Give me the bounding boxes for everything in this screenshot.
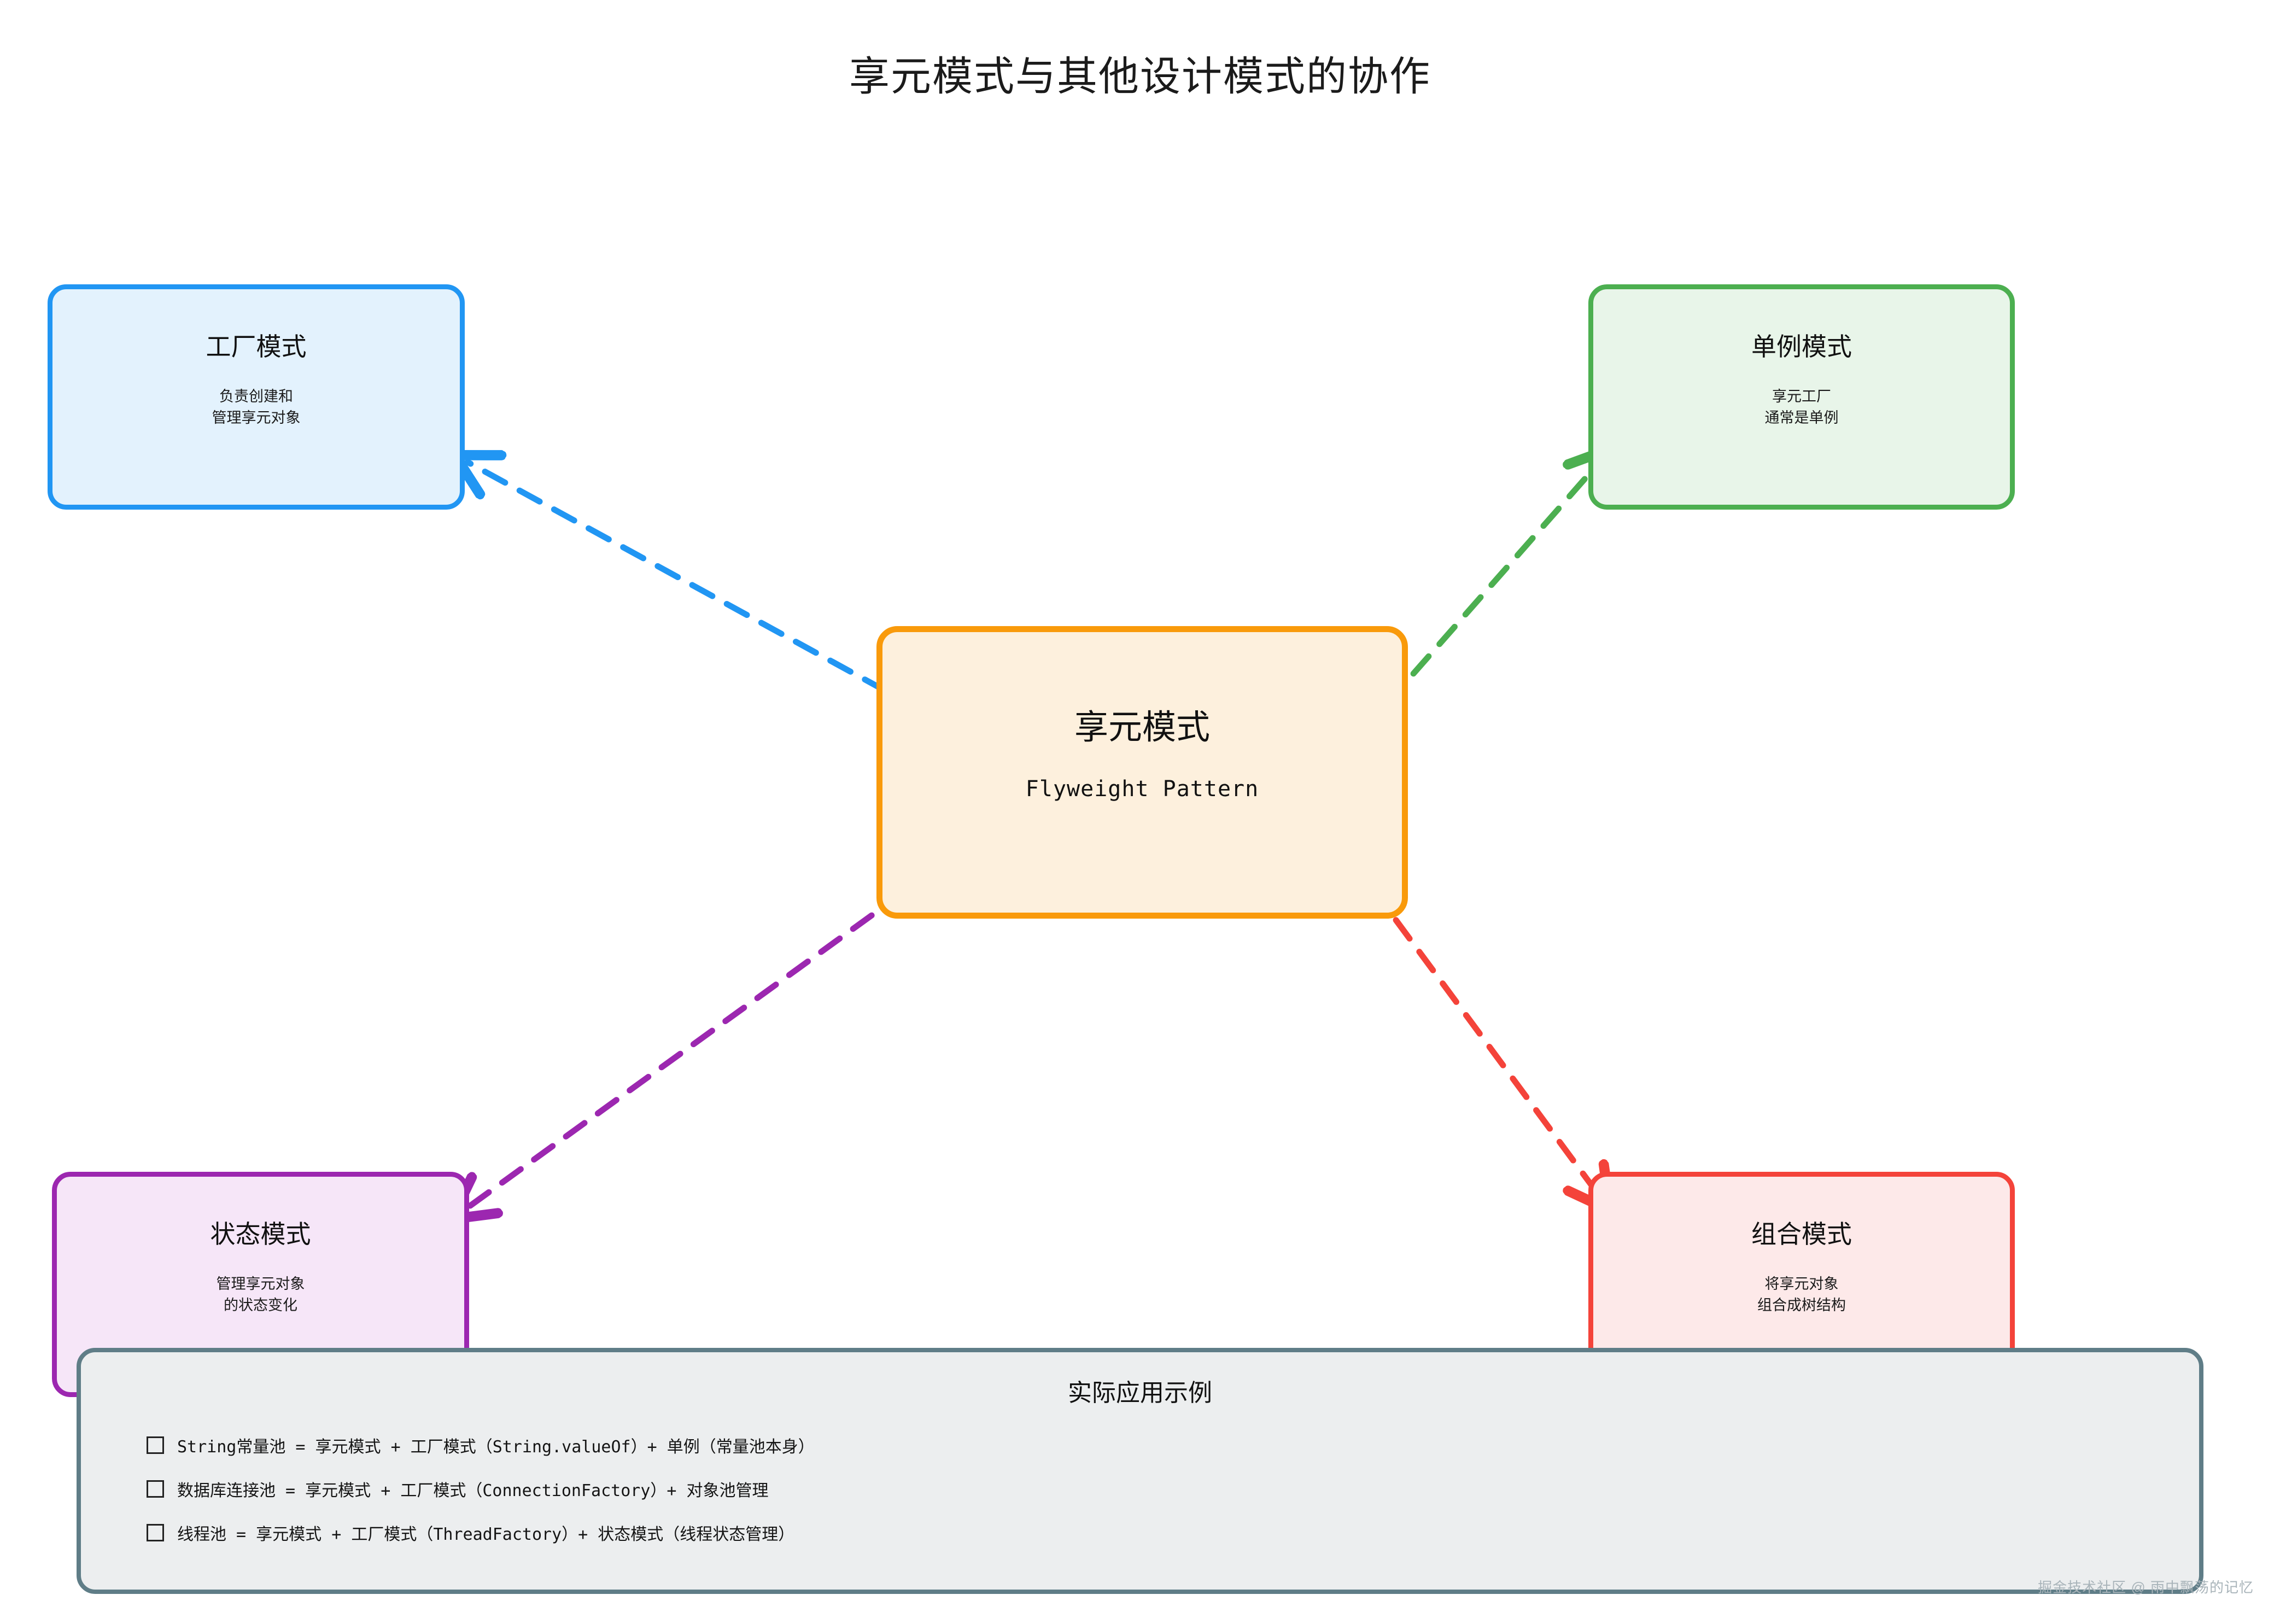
node-composite-title: 组合模式 <box>1751 1219 1852 1249</box>
checkbox-icon <box>147 1524 164 1541</box>
node-flyweight-title: 享元模式 <box>1074 708 1210 748</box>
node-flyweight-pattern[interactable]: 享元模式 Flyweight Pattern <box>876 626 1408 919</box>
checkbox-icon <box>147 1436 164 1454</box>
node-factory-subtitle: 负责创建和 管理享元对象 <box>212 386 301 429</box>
node-singleton-subtitle: 享元工厂 通常是单例 <box>1765 386 1839 429</box>
node-composite-subtitle: 将享元对象 组合成树结构 <box>1757 1274 1846 1316</box>
examples-list: String常量池 = 享元模式 + 工厂模式（String.valueOf）+… <box>81 1433 2199 1545</box>
examples-panel: 实际应用示例 String常量池 = 享元模式 + 工厂模式（String.va… <box>77 1348 2203 1594</box>
checkbox-icon <box>147 1480 164 1498</box>
examples-panel-title: 实际应用示例 <box>81 1373 2199 1408</box>
node-singleton-pattern[interactable]: 单例模式 享元工厂 通常是单例 <box>1588 284 2015 510</box>
node-singleton-title: 单例模式 <box>1751 332 1852 362</box>
list-item: 线程池 = 享元模式 + 工厂模式（ThreadFactory）+ 状态模式（线… <box>147 1521 2199 1545</box>
list-item-text: 数据库连接池 = 享元模式 + 工厂模式（ConnectionFactory）+… <box>177 1477 769 1501</box>
node-factory-pattern[interactable]: 工厂模式 负责创建和 管理享元对象 <box>48 284 465 510</box>
node-flyweight-subtitle-en: Flyweight Pattern <box>1026 776 1259 802</box>
node-factory-title: 工厂模式 <box>206 332 307 362</box>
node-state-title: 状态模式 <box>211 1219 311 1249</box>
page-title: 享元模式与其他设计模式的协作 <box>0 44 2280 102</box>
node-state-subtitle: 管理享元对象 的状态变化 <box>217 1274 305 1316</box>
list-item: String常量池 = 享元模式 + 工厂模式（String.valueOf）+… <box>147 1433 2199 1457</box>
diagram-canvas: 享元模式与其他设计模式的协作 <box>0 0 2280 1624</box>
watermark: 掘金技术社区 @ 雨中飘荡的记忆 <box>2038 1576 2254 1597</box>
list-item-text: 线程池 = 享元模式 + 工厂模式（ThreadFactory）+ 状态模式（线… <box>177 1521 794 1545</box>
list-item: 数据库连接池 = 享元模式 + 工厂模式（ConnectionFactory）+… <box>147 1477 2199 1501</box>
list-item-text: String常量池 = 享元模式 + 工厂模式（String.valueOf）+… <box>177 1433 815 1457</box>
